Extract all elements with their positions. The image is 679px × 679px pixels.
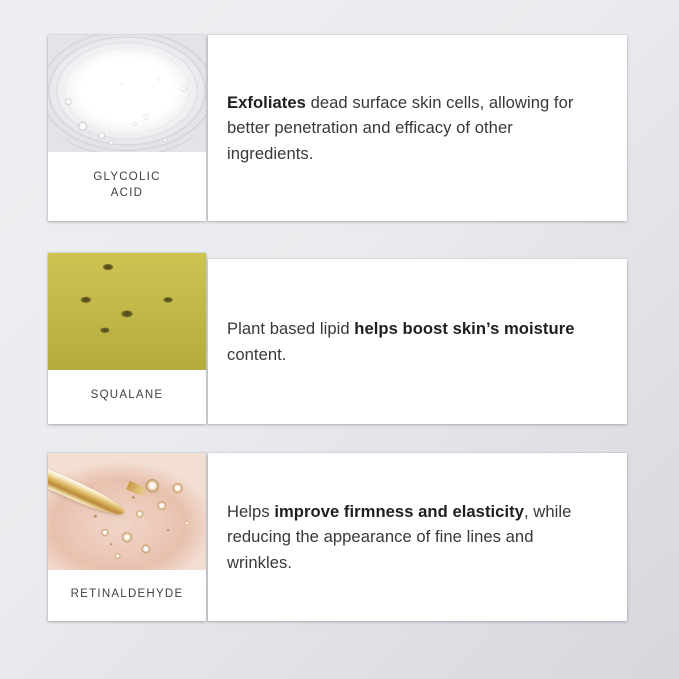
- description-text-glycolic-acid: Exfoliates dead surface skin cells, allo…: [208, 90, 627, 167]
- green-olives-texture-icon: [48, 253, 206, 370]
- glycolic-acid-image: [48, 35, 206, 152]
- description-bold-0: Exfoliates: [227, 93, 306, 112]
- pipette-icon: [48, 461, 128, 521]
- description-text-squalane: Plant based lipid helps boost skin’s moi…: [208, 316, 627, 367]
- water-bubbles-texture-icon: [48, 35, 206, 152]
- description-bold-1: helps boost skin’s moisture: [354, 319, 574, 338]
- retinaldehyde-image: [48, 453, 206, 570]
- description-card-retinaldehyde: Helps improve firmness and elasticity, w…: [208, 453, 627, 621]
- ingredient-label-wrap: SQUALANE: [48, 370, 206, 424]
- ingredient-label-wrap: GLYCOLIC ACID: [48, 152, 206, 221]
- description-normal-2a: Helps: [227, 502, 274, 521]
- ingredient-card-squalane[interactable]: SQUALANE: [48, 253, 206, 424]
- ingredient-benefits-panel: GLYCOLIC ACID Exfoliates dead surface sk…: [0, 0, 679, 679]
- description-normal-1b: content.: [227, 345, 286, 364]
- ingredient-name-squalane: SQUALANE: [91, 387, 164, 403]
- ingredient-card-glycolic-acid[interactable]: GLYCOLIC ACID: [48, 35, 206, 221]
- description-normal-1a: Plant based lipid: [227, 319, 354, 338]
- description-bold-2: improve firmness and elasticity: [274, 502, 524, 521]
- serum-dropper-texture-icon: [48, 453, 206, 570]
- description-text-retinaldehyde: Helps improve firmness and elasticity, w…: [208, 499, 627, 576]
- ingredient-card-retinaldehyde[interactable]: RETINALDEHYDE: [48, 453, 206, 621]
- pipette-tip-icon: [126, 480, 150, 498]
- ingredient-name-retinaldehyde: RETINALDEHYDE: [71, 586, 184, 602]
- ingredient-name-glycolic-acid: GLYCOLIC ACID: [93, 169, 160, 201]
- squalane-image: [48, 253, 206, 370]
- description-card-squalane: Plant based lipid helps boost skin’s moi…: [208, 259, 627, 424]
- ingredient-label-wrap: RETINALDEHYDE: [48, 570, 206, 621]
- description-card-glycolic-acid: Exfoliates dead surface skin cells, allo…: [208, 35, 627, 221]
